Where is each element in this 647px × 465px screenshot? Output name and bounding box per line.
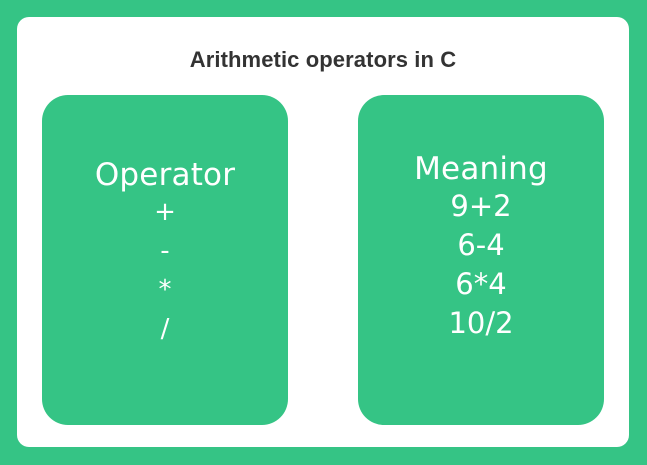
meaning-column-content: Meaning 9+2 6-4 6*4 10/2 bbox=[358, 151, 604, 343]
operator-column-heading: Operator bbox=[95, 157, 235, 193]
operator-column-content: Operator + - * / bbox=[42, 157, 288, 349]
meaning-row: 6*4 bbox=[455, 265, 506, 304]
operator-row: / bbox=[161, 310, 170, 349]
operator-row: * bbox=[159, 271, 172, 310]
operator-row: + bbox=[154, 193, 176, 232]
content-card: Arithmetic operators in C Operator + - *… bbox=[17, 17, 629, 447]
slide-canvas: Arithmetic operators in C Operator + - *… bbox=[0, 0, 647, 465]
meaning-row: 10/2 bbox=[448, 304, 513, 343]
meaning-column: Meaning 9+2 6-4 6*4 10/2 bbox=[358, 95, 604, 425]
operator-row: - bbox=[160, 232, 169, 271]
page-title: Arithmetic operators in C bbox=[17, 47, 629, 73]
meaning-column-heading: Meaning bbox=[414, 151, 548, 187]
meaning-row: 9+2 bbox=[450, 187, 511, 226]
meaning-row: 6-4 bbox=[457, 226, 504, 265]
operator-table: Operator + - * / Meaning 9+2 6-4 6*4 10/… bbox=[42, 95, 604, 425]
operator-column: Operator + - * / bbox=[42, 95, 288, 425]
